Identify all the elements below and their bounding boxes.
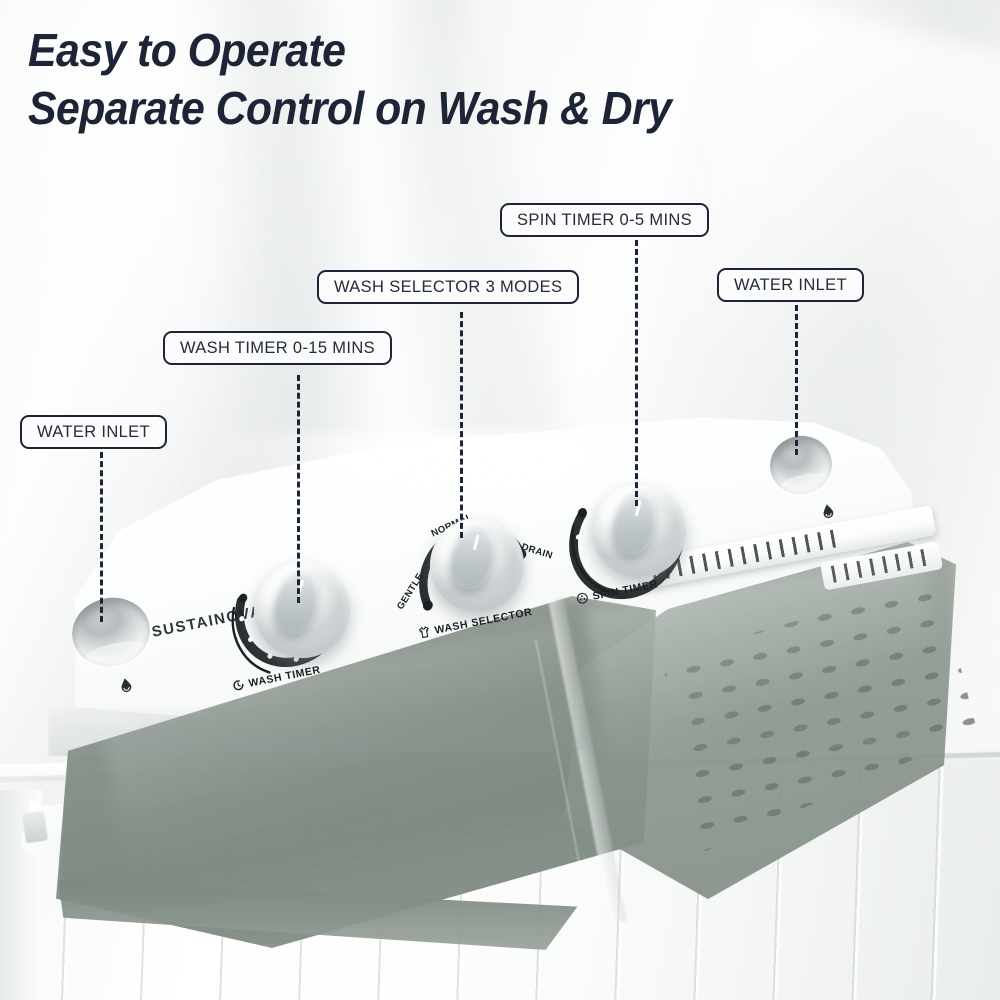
infographic-canvas: Easy to Operate Separate Control on Wash… xyxy=(0,0,1000,1000)
leader-wash-timer xyxy=(297,375,300,603)
water-drop-icon xyxy=(817,500,838,521)
callout-label: SPIN TIMER 0-5 MINS xyxy=(517,211,692,230)
washing-machine: SUSTAINOVA xyxy=(0,0,1000,1000)
callout-wash-timer[interactable]: WASH TIMER 0-15 MINS xyxy=(163,331,392,365)
clock-icon xyxy=(231,678,246,693)
callout-label: WASH TIMER 0-15 MINS xyxy=(180,339,375,358)
wash-selector-knob-cap xyxy=(445,521,501,593)
wash-selector-knob[interactable] xyxy=(430,518,524,612)
callout-wash-selector[interactable]: WASH SELECTOR 3 MODES xyxy=(317,270,579,304)
callout-label: WATER INLET xyxy=(37,423,150,442)
callout-label: WATER INLET xyxy=(734,276,847,295)
callout-label: WASH SELECTOR 3 MODES xyxy=(334,278,562,297)
callout-spin-timer[interactable]: SPIN TIMER 0-5 MINS xyxy=(500,203,709,237)
callout-water-inlet-right[interactable]: WATER INLET xyxy=(717,268,864,302)
leader-wash-selector xyxy=(460,312,463,538)
water-drop-icon xyxy=(115,674,136,695)
spin-icon xyxy=(575,591,590,606)
leader-spin-timer xyxy=(635,240,638,506)
callout-water-inlet-left[interactable]: WATER INLET xyxy=(20,415,167,449)
spin-timer-knob[interactable] xyxy=(592,484,686,578)
shirt-icon xyxy=(417,625,432,640)
wash-selector-knob-pointer xyxy=(473,534,480,550)
leader-water-inlet-right xyxy=(795,305,798,455)
leader-water-inlet-left xyxy=(100,452,103,622)
wash-timer-knob[interactable] xyxy=(254,562,350,658)
